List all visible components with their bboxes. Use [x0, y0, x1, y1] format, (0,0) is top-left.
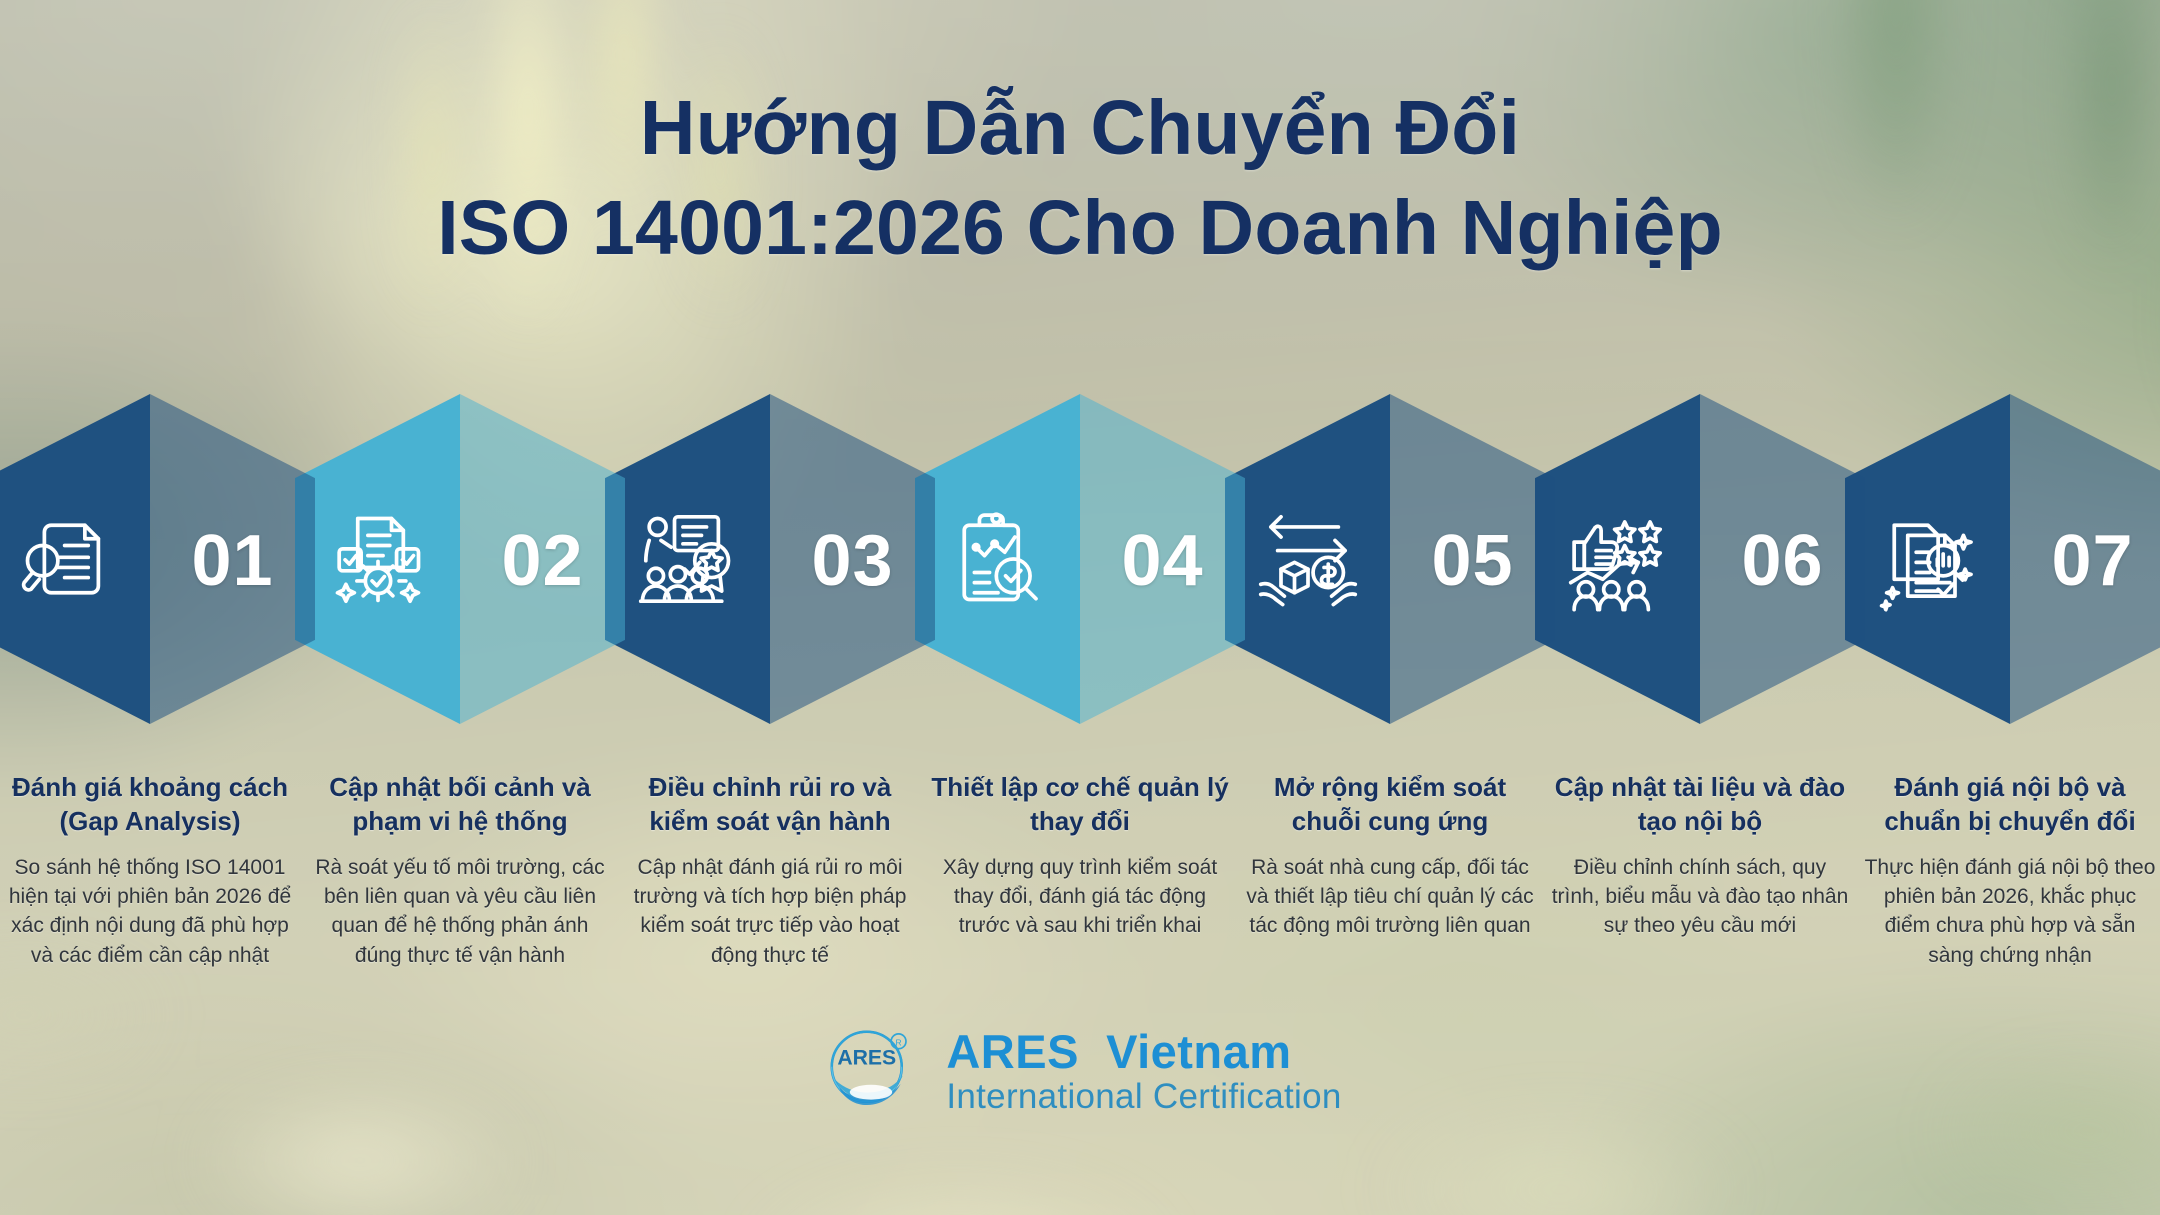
process-step-body: Rà soát nhà cung cấp, đối tác và thiết l… — [1240, 853, 1540, 941]
document-magnifier-icon — [14, 505, 122, 613]
process-step-icon-area-02 — [295, 394, 460, 724]
process-step-hexagon-07[interactable]: 07 — [1845, 394, 2160, 724]
ares-globe-logo-icon: ARES R — [818, 1018, 924, 1124]
process-step-number-area-03: 03 — [770, 394, 935, 724]
process-step-number: 06 — [1741, 525, 1823, 597]
process-step-heading: Mở rộng kiểm soát chuỗi cung ứng — [1240, 770, 1540, 839]
process-step-number: 03 — [811, 525, 893, 597]
process-step-body: Thực hiện đánh giá nội bộ theo phiên bản… — [1860, 853, 2160, 971]
process-step-icon-area-06 — [1535, 394, 1700, 724]
process-step-number: 01 — [191, 525, 273, 597]
svg-text:R: R — [896, 1038, 902, 1048]
process-step-number-area-06: 06 — [1700, 394, 1865, 724]
process-step-hexagon-05[interactable]: 05 — [1225, 394, 1555, 724]
process-step-caption-07: Đánh giá nội bộ và chuẩn bị chuyển đổiTh… — [1860, 770, 2160, 970]
page-title: Hướng Dẫn Chuyển Đổi ISO 14001:2026 Cho … — [0, 0, 2160, 278]
supply-chain-exchange-icon — [1254, 505, 1362, 613]
process-step-caption-02: Cập nhật bối cảnh và phạm vi hệ thốngRà … — [310, 770, 610, 970]
process-step-number-area-02: 02 — [460, 394, 625, 724]
process-step-heading: Đánh giá khoảng cách (Gap Analysis) — [0, 770, 300, 839]
process-step-number: 07 — [2051, 525, 2133, 597]
process-step-heading: Cập nhật tài liệu và đào tạo nội bộ — [1550, 770, 1850, 839]
process-step-body: Rà soát yếu tố môi trường, các bên liên … — [310, 853, 610, 971]
process-step-body: Cập nhật đánh giá rủi ro môi trường và t… — [620, 853, 920, 971]
process-step-number-area-04: 04 — [1080, 394, 1245, 724]
process-step-heading: Cập nhật bối cảnh và phạm vi hệ thống — [310, 770, 610, 839]
process-step-caption-04: Thiết lập cơ chế quản lý thay đổiXây dựn… — [930, 770, 1230, 941]
process-hexagon-row: 01 02 — [0, 394, 2160, 724]
training-presentation-icon — [634, 505, 742, 613]
process-step-caption-01: Đánh giá khoảng cách (Gap Analysis)So sá… — [0, 770, 300, 970]
process-step-caption-06: Cập nhật tài liệu và đào tạo nội bộĐiều … — [1550, 770, 1850, 941]
process-step-body: Xây dựng quy trình kiểm soát thay đổi, đ… — [930, 853, 1230, 941]
thumbs-up-stars-growth-icon — [1564, 505, 1672, 613]
process-step-number: 05 — [1431, 525, 1513, 597]
process-step-body: Điều chỉnh chính sách, quy trình, biểu m… — [1550, 853, 1850, 941]
process-step-heading: Thiết lập cơ chế quản lý thay đổi — [930, 770, 1230, 839]
clipboard-audit-magnifier-icon — [944, 505, 1052, 613]
process-step-icon-area-05 — [1225, 394, 1390, 724]
process-step-hexagon-02[interactable]: 02 — [295, 394, 625, 724]
ares-logo: ARES R ARES Vietnam International Certif… — [0, 1018, 2160, 1124]
process-step-body: So sánh hệ thống ISO 14001 hiện tại với … — [0, 853, 300, 971]
process-step-number-area-07: 07 — [2010, 394, 2160, 724]
process-step-hexagon-06[interactable]: 06 — [1535, 394, 1865, 724]
process-step-caption-05: Mở rộng kiểm soát chuỗi cung ứngRà soát … — [1240, 770, 1540, 941]
page-title-line-1: Hướng Dẫn Chuyển Đổi — [0, 78, 2160, 178]
process-step-number: 02 — [501, 525, 583, 597]
process-step-hexagon-03[interactable]: 03 — [605, 394, 935, 724]
process-step-hexagon-01[interactable]: 01 — [0, 394, 315, 724]
logo-brand: ARES — [946, 1025, 1079, 1078]
report-chart-verified-icon — [1874, 505, 1982, 613]
process-step-number: 04 — [1121, 525, 1203, 597]
process-step-caption-03: Điều chỉnh rủi ro và kiểm soát vận hànhC… — [620, 770, 920, 970]
process-step-number-area-01: 01 — [150, 394, 315, 724]
process-step-icon-area-07 — [1845, 394, 2010, 724]
process-step-icon-area-01 — [0, 394, 150, 724]
process-step-heading: Điều chỉnh rủi ro và kiểm soát vận hành — [620, 770, 920, 839]
logo-tagline: International Certification — [946, 1079, 1341, 1115]
process-step-number-area-05: 05 — [1390, 394, 1555, 724]
logo-region: Vietnam — [1106, 1025, 1292, 1078]
document-gear-checklist-icon — [324, 505, 432, 613]
process-step-icon-area-04 — [915, 394, 1080, 724]
process-step-icon-area-03 — [605, 394, 770, 724]
svg-text:ARES: ARES — [838, 1047, 897, 1070]
process-step-heading: Đánh giá nội bộ và chuẩn bị chuyển đổi — [1860, 770, 2160, 839]
process-step-hexagon-04[interactable]: 04 — [915, 394, 1245, 724]
page-title-line-2: ISO 14001:2026 Cho Doanh Nghiệp — [0, 178, 2160, 278]
